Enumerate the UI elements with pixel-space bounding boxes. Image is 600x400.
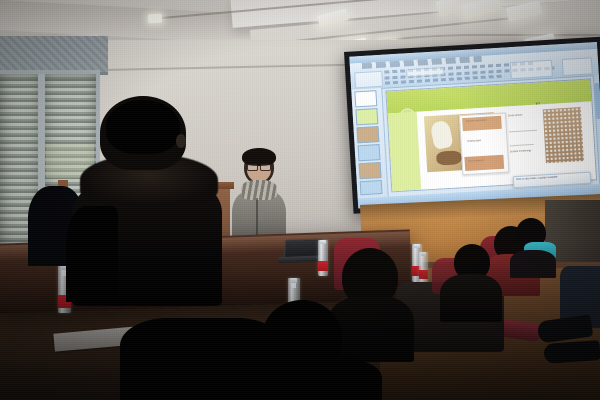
slide-thumb-2[interactable] bbox=[355, 108, 378, 125]
attendee-far-right bbox=[548, 266, 600, 376]
bottle-body bbox=[419, 252, 428, 284]
glasses-lens-left bbox=[247, 164, 258, 171]
projected-image: Experiment Sample preparation Coating la… bbox=[349, 42, 600, 208]
slide-thumb-3[interactable] bbox=[356, 126, 379, 143]
slide-image-micrograph bbox=[543, 107, 585, 164]
standing-attendee-ear bbox=[176, 134, 186, 148]
standing-attendee bbox=[72, 96, 218, 296]
slide-thumb-5[interactable] bbox=[359, 162, 382, 179]
slide-rule-1 bbox=[509, 130, 537, 132]
slide-text-block-lower: Surface morphology bbox=[510, 148, 542, 153]
presenter-glasses bbox=[247, 164, 271, 169]
standing-attendee-hair bbox=[106, 100, 180, 154]
water-bottle[interactable] bbox=[318, 240, 328, 276]
attendee-body bbox=[440, 274, 502, 322]
slide-thumb-4[interactable] bbox=[358, 144, 381, 161]
presenter-scarf bbox=[241, 180, 277, 200]
slide-rule-2 bbox=[510, 144, 535, 146]
bottle-cap bbox=[414, 244, 420, 248]
slide-side-band bbox=[388, 112, 421, 192]
attendee-shoe bbox=[543, 340, 600, 364]
slide-thumb-1[interactable] bbox=[354, 90, 377, 107]
bottle-cap bbox=[291, 278, 298, 283]
ceiling-downlight bbox=[148, 14, 162, 24]
water-bottle[interactable] bbox=[419, 252, 428, 284]
conference-room-photo: Experiment Sample preparation Coating la… bbox=[0, 0, 600, 400]
standing-attendee-shoulder bbox=[66, 206, 118, 302]
projector-screen[interactable]: Experiment Sample preparation Coating la… bbox=[344, 37, 600, 214]
scrollbar-thumb[interactable] bbox=[594, 83, 600, 119]
slide-card-block-top bbox=[462, 115, 501, 131]
bottle-label bbox=[419, 270, 428, 279]
attendee-right-front bbox=[440, 244, 502, 318]
slide-text-block-upper: Cross section bbox=[508, 112, 540, 117]
ribbon-group-editing[interactable] bbox=[562, 57, 593, 76]
ribbon-group-drawing[interactable] bbox=[510, 60, 553, 79]
attendee-front-left bbox=[120, 318, 280, 400]
bottle-cap bbox=[421, 252, 426, 256]
slide-card-block-bottom bbox=[465, 155, 504, 171]
slide-thumbnails-pane[interactable] bbox=[351, 88, 388, 199]
glasses-lens-right bbox=[260, 164, 271, 171]
bottle-cap bbox=[320, 240, 326, 244]
bottle-label bbox=[318, 261, 328, 271]
slide-image-sample-dark bbox=[436, 150, 461, 165]
slide-thumb-6[interactable] bbox=[360, 180, 383, 195]
ribbon-group-clipboard[interactable] bbox=[354, 71, 383, 89]
